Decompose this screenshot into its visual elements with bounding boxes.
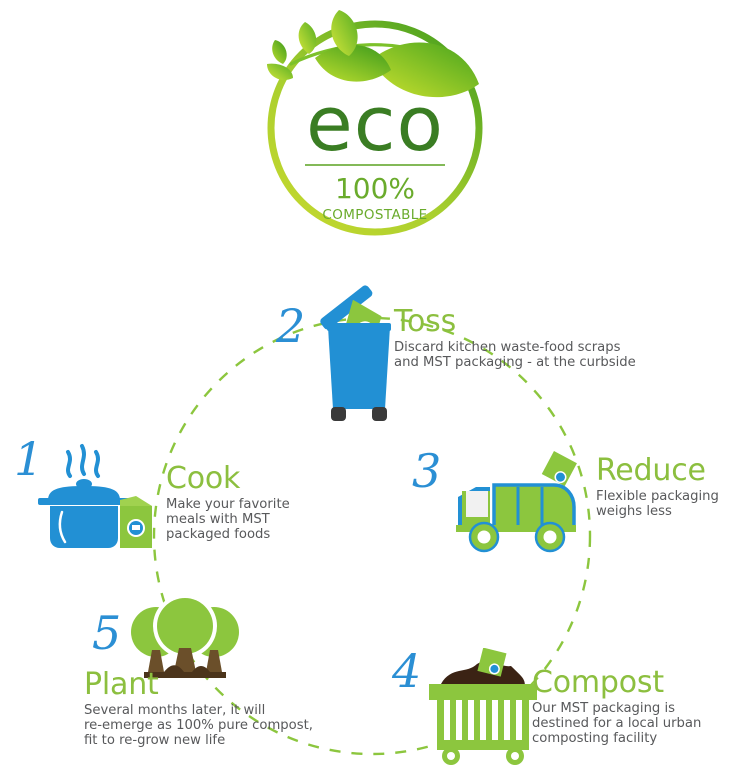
step-desc-toss: Discard kitchen waste-food scraps and MS… (394, 340, 636, 371)
step-text-reduce: Reduce Flexible packaging weighs less (596, 456, 719, 519)
step-desc-cook: Make your favorite meals with MST packag… (166, 497, 290, 543)
step-desc-reduce: Flexible packaging weighs less (596, 489, 719, 520)
step-number-compost: 4 (392, 648, 421, 694)
step-text-compost: Compost Our MST packaging is destined fo… (532, 668, 701, 747)
cooking-pot-icon (34, 442, 159, 558)
step-text-cook: Cook Make your favorite meals with MST p… (166, 464, 290, 543)
trash-bin-icon (314, 281, 404, 433)
eco-compostable-badge: eco 100% COMPOSTABLE (253, 2, 498, 247)
step-number-plant: 5 (92, 610, 121, 656)
step-desc-compost: Our MST packaging is destined for a loca… (532, 701, 701, 747)
compost-bin-icon (425, 648, 540, 770)
step-number-toss: 2 (276, 303, 305, 349)
step-text-plant: Plant Several months later, it will re-e… (84, 670, 313, 749)
step-title-cook: Cook (166, 464, 290, 495)
badge-subtitle: COMPOSTABLE (322, 207, 427, 223)
badge-wordmark: eco (306, 79, 444, 168)
step-plant[interactable]: 5 Plant Several months l (84, 592, 354, 767)
step-title-toss: Toss (394, 307, 636, 338)
step-reduce[interactable]: 3 (412, 443, 742, 558)
step-cook[interactable]: 1 (14, 432, 344, 557)
step-title-plant: Plant (84, 670, 313, 701)
step-text-toss: Toss Discard kitchen waste-food scraps a… (394, 307, 636, 370)
badge-percent: 100% (335, 172, 415, 205)
step-number-reduce: 3 (412, 448, 441, 494)
step-desc-plant: Several months later, it will re-emerge … (84, 703, 313, 749)
step-title-reduce: Reduce (596, 456, 719, 487)
garbage-truck-icon (450, 451, 590, 559)
step-compost[interactable]: 4 (392, 648, 742, 773)
step-title-compost: Compost (532, 668, 701, 699)
step-toss[interactable]: 2 Toss (276, 281, 636, 426)
eco-lifecycle-infographic: eco 100% COMPOSTABLE 2 (0, 0, 750, 779)
